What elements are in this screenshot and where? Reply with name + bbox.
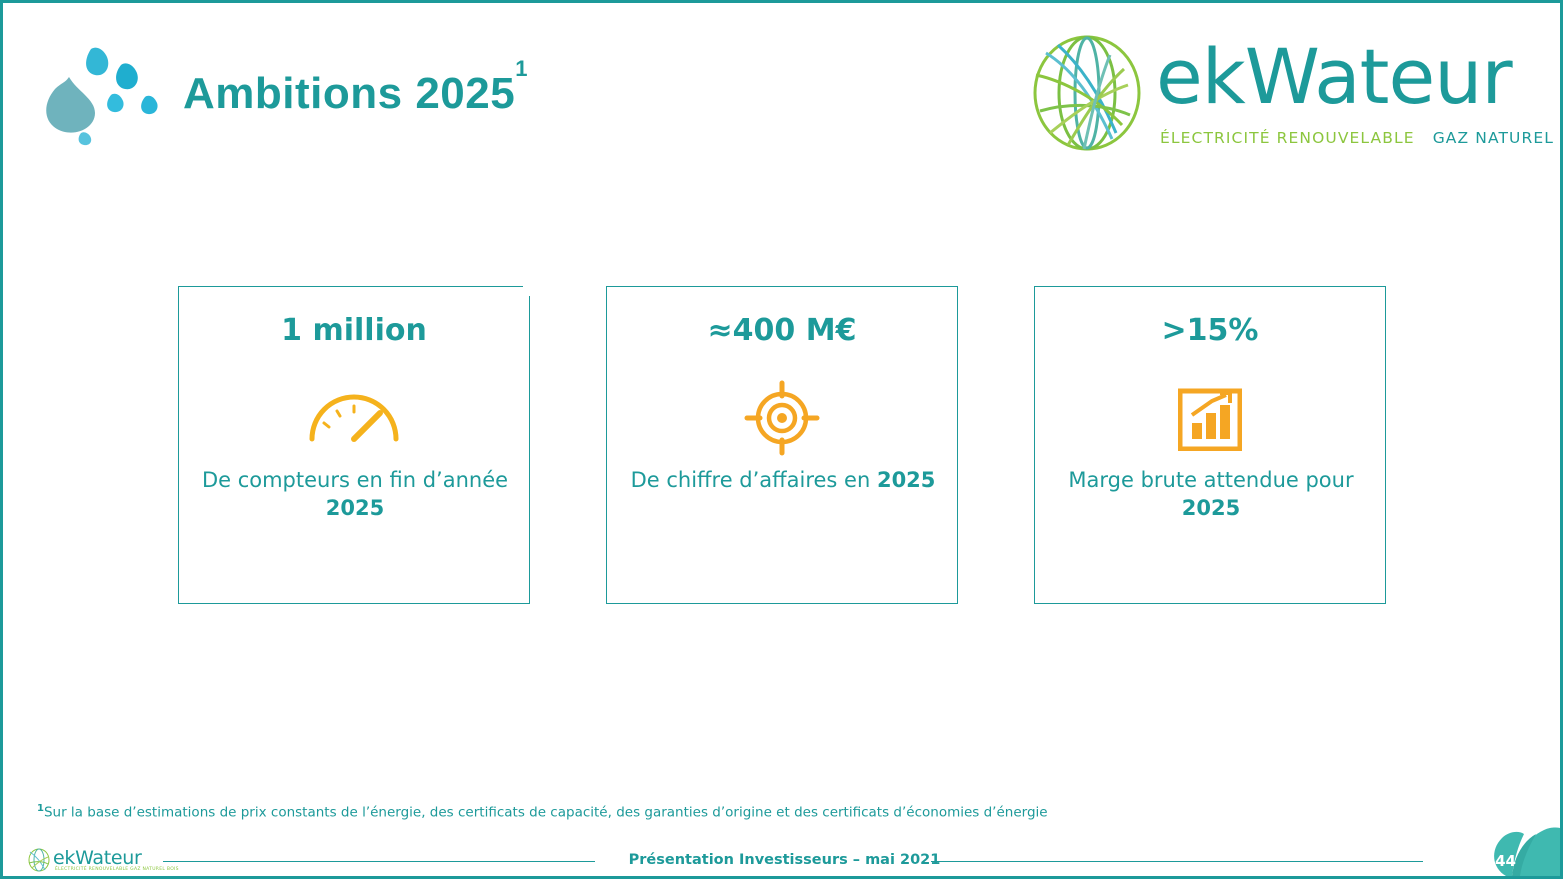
card-caption-bold: 2025: [326, 496, 384, 520]
page-title-superscript: 1: [515, 56, 528, 81]
card-caption-bold: 2025: [877, 468, 935, 492]
card-caption-text: Marge brute attendue pour: [1068, 468, 1353, 492]
page-title-text: Ambitions 2025: [183, 69, 515, 118]
ambition-cards: 1 million De compteurs en fin d’année 20…: [178, 286, 1388, 606]
brand-tagline: ÉLECTRICITÉ RENOUVELABLE GAZ NATUREL BOI…: [1160, 129, 1563, 147]
card-caption-text: De chiffre d’affaires en: [631, 468, 877, 492]
card-caption: Marge brute attendue pour 2025: [1055, 467, 1367, 523]
ambition-card-margin: >15% Marge brute attendue pour 2025: [1034, 286, 1386, 604]
card-value: >15%: [1035, 313, 1385, 348]
target-icon: [607, 383, 957, 453]
speedometer-icon: [179, 383, 529, 453]
card-value: 1 million: [179, 313, 529, 348]
slide: Ambitions 20251 ekWateur ÉLECTRICITÉ REN…: [0, 0, 1563, 879]
footnote-marker: 1: [37, 803, 44, 814]
card-caption-text: De compteurs en fin d’année: [202, 468, 508, 492]
brand-tagline-2: GAZ NATUREL: [1433, 129, 1554, 147]
brand-name-part2: Wateur: [1245, 32, 1512, 121]
card-caption: De compteurs en fin d’année 2025: [199, 467, 511, 523]
footnote: 1Sur la base d’estimations de prix const…: [37, 803, 1048, 821]
bar-chart-growth-icon: [1035, 383, 1385, 453]
footnote-text: Sur la base d’estimations de prix consta…: [44, 805, 1048, 821]
page-title: Ambitions 20251: [183, 69, 528, 119]
brand-logo: ekWateur ÉLECTRICITÉ RENOUVELABLE GAZ NA…: [1024, 25, 1524, 165]
ambition-card-revenue: ≈400 M€ De chiffre d’affaires: [606, 286, 958, 604]
card-caption: De chiffre d’affaires en 2025: [627, 467, 939, 495]
footer-center-text: Présentation Investisseurs – mai 2021: [3, 852, 1563, 868]
page-number: 44: [1495, 852, 1516, 870]
brand-tagline-1: ÉLECTRICITÉ RENOUVELABLE: [1160, 129, 1415, 147]
card-value: ≈400 M€: [607, 313, 957, 348]
card-caption-bold: 2025: [1182, 496, 1240, 520]
ambition-card-meters: 1 million De compteurs en fin d’année 20…: [178, 286, 530, 604]
brand-wordmark: ekWateur: [1156, 39, 1512, 115]
ekwateur-globe-icon: [1024, 29, 1150, 157]
brand-name-part1: ek: [1156, 32, 1245, 121]
water-droplets-icon: [25, 31, 165, 151]
